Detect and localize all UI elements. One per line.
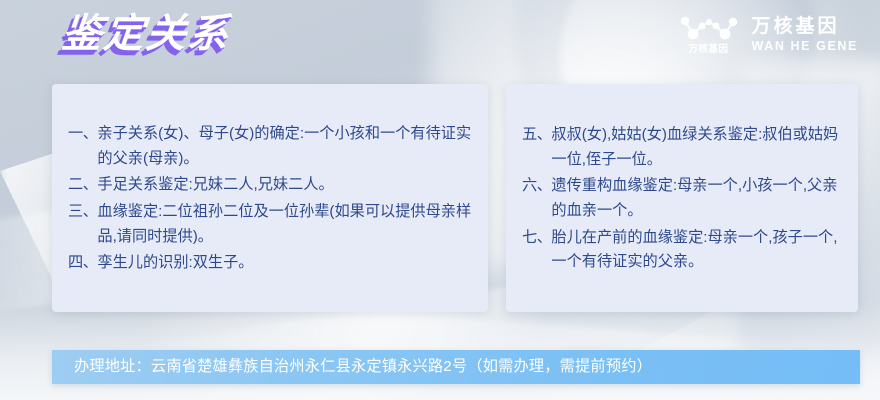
brand-name-cn: 万核基因: [752, 17, 859, 37]
slide-canvas: 鉴定关系: [0, 0, 880, 400]
list-item: 四、 孪生儿的识别:双生子。: [68, 251, 474, 276]
brand-wordmark: 万核基因 WAN HE GENE: [752, 17, 859, 53]
list-item-number: 六、: [522, 174, 551, 199]
address-text: 办理地址：云南省楚雄彝族自治州永仁县永定镇永兴路2号（如需办理，需提前预约）: [52, 359, 652, 374]
list-item: 六、 遗传重构血缘鉴定:母亲一个,小孩一个,父亲的血亲一个。: [522, 174, 844, 223]
list-item-text: 胎儿在产前的血缘鉴定:母亲一个,孩子一个,一个有待证实的父亲。: [551, 226, 844, 275]
list-item-number: 四、: [68, 251, 97, 276]
list-item-text: 血缘鉴定:二位祖孙二位及一位孙辈(如果可以提供母亲样品,请同时提供)。: [97, 200, 474, 249]
list-item-text: 亲子关系(女)、母子(女)的确定:一个小孩和一个有待证实的父亲(母亲)。: [97, 122, 474, 171]
address-banner: 办理地址：云南省楚雄彝族自治州永仁县永定镇永兴路2号（如需办理，需提前预约）: [52, 350, 860, 384]
list-item-text: 叔叔(女),姑姑(女)血绿关系鉴定:叔伯或姑妈一位,侄子一位。: [551, 123, 844, 172]
relationship-list-panel-left: 一、 亲子关系(女)、母子(女)的确定:一个小孩和一个有待证实的父亲(母亲)。 …: [52, 84, 488, 312]
page-title: 鉴定关系: [60, 12, 233, 56]
relationship-list-panel-right: 五、 叔叔(女),姑姑(女)血绿关系鉴定:叔伯或姑妈一位,侄子一位。 六、 遗传…: [506, 84, 858, 312]
molecule-network-icon: [680, 16, 738, 42]
list-item-text: 手足关系鉴定:兄妹二人,兄妹二人。: [97, 173, 474, 198]
brand-mark: 万核基因: [680, 16, 738, 55]
brand-mark-caption: 万核基因: [688, 45, 728, 55]
list-item-number: 三、: [68, 200, 97, 225]
list-item: 五、 叔叔(女),姑姑(女)血绿关系鉴定:叔伯或姑妈一位,侄子一位。: [522, 123, 844, 172]
list-item-text: 遗传重构血缘鉴定:母亲一个,小孩一个,父亲的血亲一个。: [551, 174, 844, 223]
list-item: 二、 手足关系鉴定:兄妹二人,兄妹二人。: [68, 173, 474, 198]
list-item: 一、 亲子关系(女)、母子(女)的确定:一个小孩和一个有待证实的父亲(母亲)。: [68, 122, 474, 171]
brand-lockup: 万核基因 万核基因 WAN HE GENE: [680, 16, 859, 55]
list-item-number: 五、: [522, 123, 551, 148]
list-item-number: 二、: [68, 173, 97, 198]
list-item-number: 七、: [522, 226, 551, 251]
list-item: 七、 胎儿在产前的血缘鉴定:母亲一个,孩子一个,一个有待证实的父亲。: [522, 226, 844, 275]
list-item-text: 孪生儿的识别:双生子。: [97, 251, 474, 276]
list-item-number: 一、: [68, 122, 97, 147]
list-item: 三、 血缘鉴定:二位祖孙二位及一位孙辈(如果可以提供母亲样品,请同时提供)。: [68, 200, 474, 249]
brand-name-en: WAN HE GENE: [752, 40, 859, 53]
